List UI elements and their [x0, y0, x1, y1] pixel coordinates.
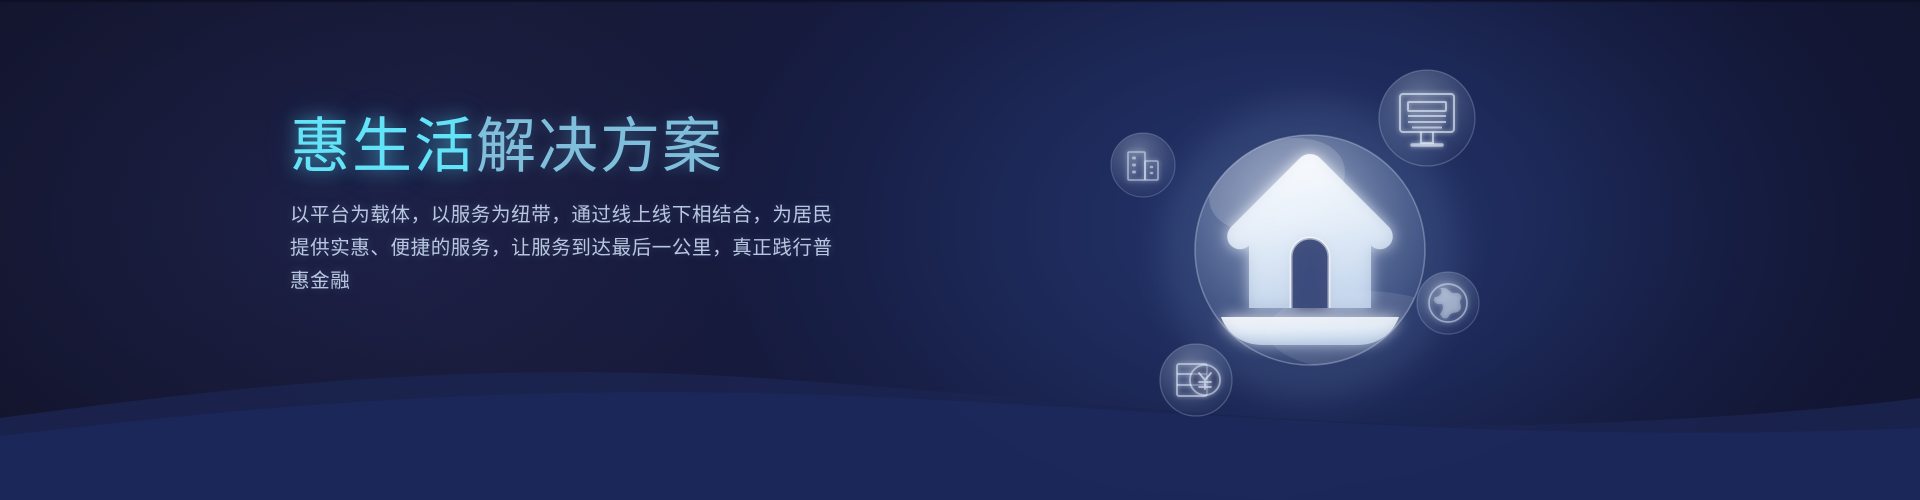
- monitor-icon: [1379, 70, 1475, 166]
- page-description-line-1: 以平台为载体，以服务为纽带，通过线上线下相结合，为居民: [290, 199, 865, 232]
- page-description-line-3: 惠金融: [290, 265, 865, 298]
- page-title-secondary: 解决方案: [476, 113, 724, 180]
- globe-icon: [1417, 272, 1479, 334]
- solution-illustration: [1095, 35, 1525, 465]
- office-building-icon: [1111, 133, 1175, 197]
- background-wave-front: [0, 340, 1920, 500]
- banner-copy: 惠生活解决方案 以平台为载体，以服务为纽带，通过线上线下相结合，为居民 提供实惠…: [290, 112, 910, 298]
- background-top-edge: [0, 0, 1920, 3]
- page-description-line-2: 提供实惠、便捷的服务，让服务到达最后一公里，真正践行普: [290, 232, 865, 265]
- illustration-svg: [1095, 35, 1525, 465]
- hui-life-solution-banner: 惠生活解决方案 以平台为载体，以服务为纽带，通过线上线下相结合，为居民 提供实惠…: [0, 0, 1920, 500]
- page-description: 以平台为载体，以服务为纽带，通过线上线下相结合，为居民 提供实惠、便捷的服务，让…: [290, 199, 865, 298]
- page-title: 惠生活解决方案: [290, 112, 910, 183]
- page-title-highlight: 惠生活: [290, 113, 476, 180]
- yen-card-icon: [1160, 344, 1232, 416]
